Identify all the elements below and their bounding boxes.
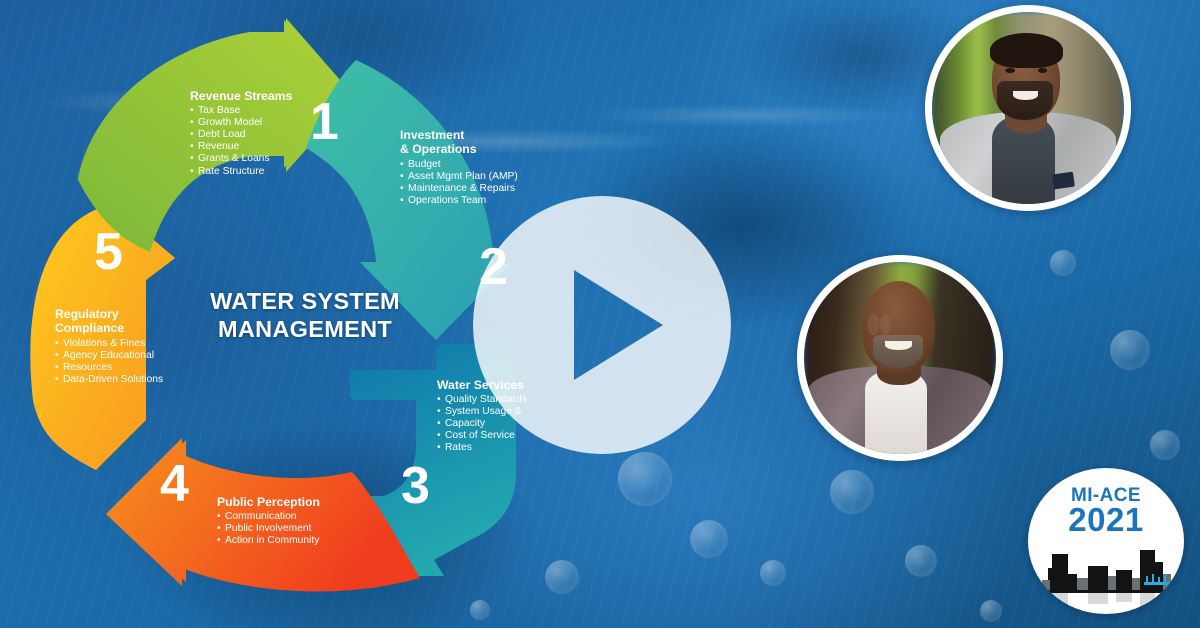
bubble: [830, 470, 874, 514]
mi-ace-logo: MI-ACE 2021: [1028, 468, 1184, 614]
segment-2-label: Investment & Operations Budget Asset Mgm…: [400, 128, 518, 207]
portrait: [804, 262, 996, 454]
segment-4-heading: Public Perception: [217, 495, 320, 509]
segment-5-label: Regulatory Compliance Violations & Fines…: [55, 307, 163, 386]
segment-number-5: 5: [94, 226, 123, 278]
segment-5-heading-line2: Compliance: [55, 321, 163, 335]
bullet: Budget: [400, 159, 518, 171]
segment-1-bullets: Tax Base Growth Model Debt Load Revenue …: [190, 105, 292, 177]
bullet: Debt Load: [190, 129, 292, 141]
segment-2-heading-line2: & Operations: [400, 142, 518, 156]
title-line-1: WATER SYSTEM: [185, 288, 425, 316]
bullet: Tax Base: [190, 105, 292, 117]
bullet: Revenue: [190, 141, 292, 153]
bubble: [905, 545, 937, 577]
speaker-photo-top: [925, 5, 1131, 211]
play-circle[interactable]: [473, 196, 731, 454]
title-line-2: MANAGEMENT: [185, 316, 425, 344]
bullet: Public Involvement: [217, 523, 320, 535]
bullet-cont: Resources: [55, 362, 163, 374]
segment-1-heading: Revenue Streams: [190, 89, 292, 103]
bubble: [1110, 330, 1150, 370]
segment-1-label: Revenue Streams Tax Base Growth Model De…: [190, 89, 292, 178]
bubble: [1050, 250, 1076, 276]
bullet: Agency Educational: [55, 350, 163, 362]
segment-number-1: 1: [310, 96, 339, 148]
page-title: WATER SYSTEM MANAGEMENT: [185, 288, 425, 343]
speaker-photo-bottom: [797, 255, 1003, 461]
segment-5-bullets: Violations & Fines Agency Educational Re…: [55, 338, 163, 386]
water-system-management-graphic: 1 2 3 4 5 Revenue Streams Tax Base Growt…: [0, 0, 1200, 628]
segment-5-heading-line1: Regulatory: [55, 307, 163, 321]
bubble: [1150, 430, 1180, 460]
bullet: Violations & Fines: [55, 338, 163, 350]
segment-number-4: 4: [160, 458, 189, 510]
play-button[interactable]: [473, 196, 731, 454]
bullet: Communication: [217, 511, 320, 523]
segment-number-3: 3: [401, 460, 430, 512]
bullet: Action in Community: [217, 535, 320, 547]
segment-4-bullets: Communication Public Involvement Action …: [217, 511, 320, 547]
segment-2-heading-line1: Investment: [400, 128, 518, 142]
bullet: Maintenance & Repairs: [400, 183, 518, 195]
bubble: [760, 560, 786, 586]
bullet: Rate Structure: [190, 166, 292, 178]
city-skyline-icon: [1028, 534, 1184, 614]
bubble: [980, 600, 1002, 622]
segment-4-label: Public Perception Communication Public I…: [217, 495, 320, 547]
bullet: Grants & Loans: [190, 153, 292, 165]
bullet: Asset Mgmt Plan (AMP): [400, 171, 518, 183]
bullet: Growth Model: [190, 117, 292, 129]
bullet: Data-Driven Solutions: [55, 374, 163, 386]
portrait: [932, 12, 1124, 204]
